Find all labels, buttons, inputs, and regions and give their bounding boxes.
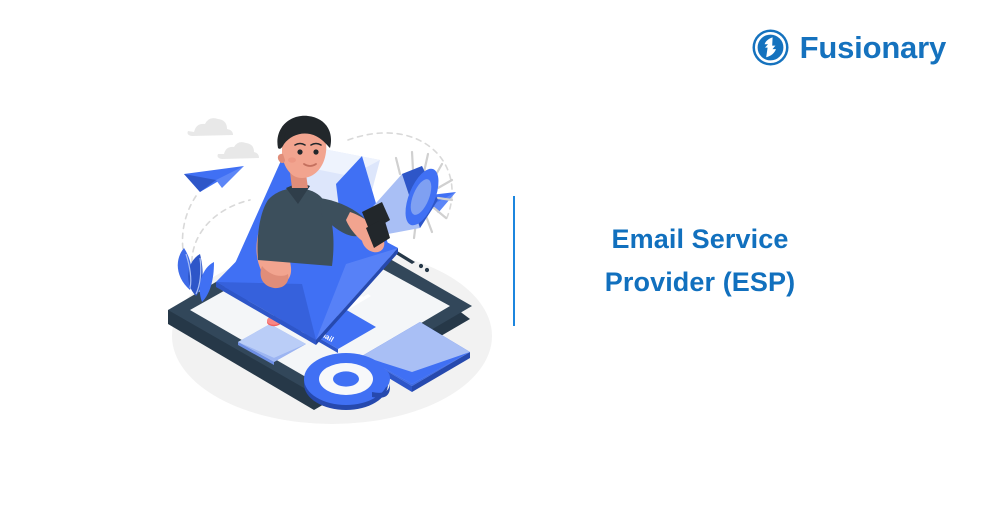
email-marketing-illustration: New email xyxy=(150,96,510,436)
paper-plane-left xyxy=(184,166,244,192)
cloud-small-right xyxy=(218,142,260,159)
page-title-line-2: Provider (ESP) xyxy=(540,261,860,304)
at-symbol xyxy=(304,353,390,410)
vertical-divider xyxy=(513,196,515,326)
cloud-small-left xyxy=(188,118,234,136)
brand-logo: Fusionary xyxy=(752,29,946,66)
fusionary-circle-f-logo-icon xyxy=(752,29,789,66)
brand-name: Fusionary xyxy=(800,32,946,63)
slide-canvas: Fusionary Email Service Provider (ESP) xyxy=(0,0,990,526)
page-title: Email Service Provider (ESP) xyxy=(540,218,860,303)
page-title-line-1: Email Service xyxy=(540,218,860,261)
